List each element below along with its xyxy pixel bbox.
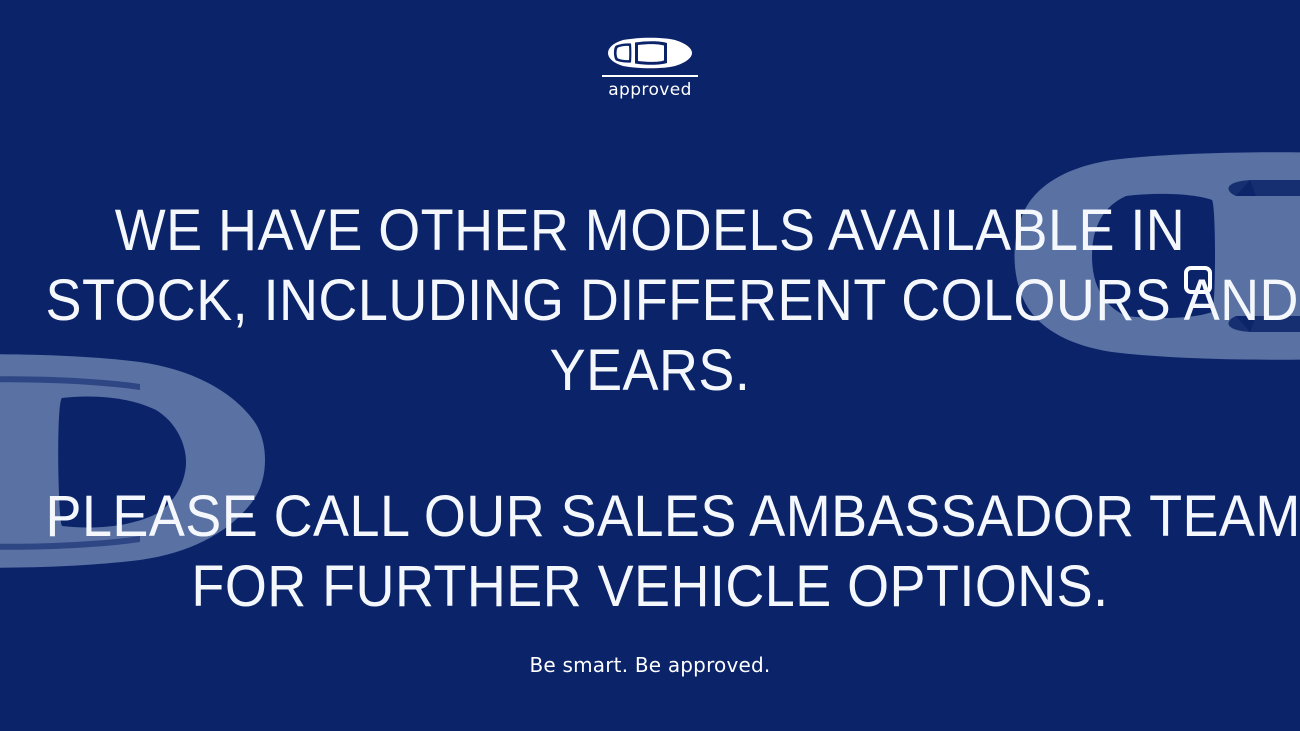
- message-paragraph-two: PLEASE CALL OUR SALES AMBASSADOR TEAM FO…: [0, 482, 1300, 622]
- headline-line: PLEASE CALL OUR SALES AMBASSADOR TEAM: [46, 482, 1255, 552]
- headline-line: YEARS.: [46, 336, 1255, 406]
- headline-line: FOR FURTHER VEHICLE OPTIONS.: [46, 552, 1255, 622]
- tagline: Be smart. Be approved.: [0, 653, 1300, 677]
- message-paragraph-one: WE HAVE OTHER MODELS AVAILABLE IN STOCK,…: [0, 196, 1300, 406]
- promo-slide: approved WE HAVE OTHER MODELS AVAILABLE …: [0, 0, 1300, 731]
- headline-line: WE HAVE OTHER MODELS AVAILABLE IN: [46, 196, 1255, 266]
- headline-line: STOCK, INCLUDING DIFFERENT COLOURS AND: [46, 266, 1255, 336]
- brand-lockup: approved: [0, 36, 1300, 100]
- brand-divider: [602, 75, 698, 77]
- car-top-view-icon: [605, 36, 695, 70]
- brand-word: approved: [608, 80, 692, 100]
